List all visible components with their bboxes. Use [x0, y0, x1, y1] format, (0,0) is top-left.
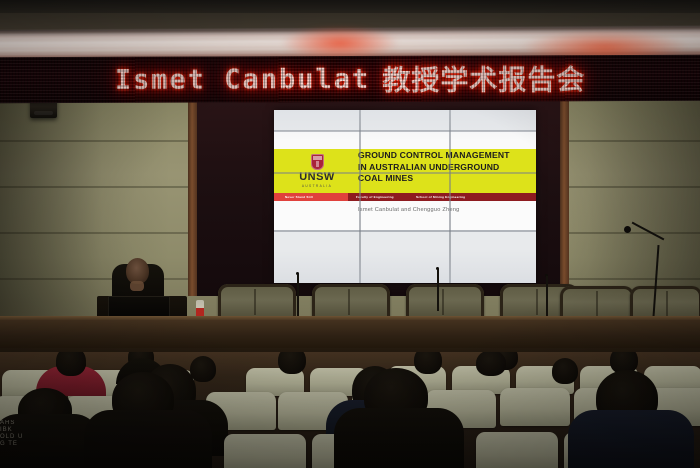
boom-microphone-head-icon	[624, 226, 631, 233]
audience-seat	[224, 434, 306, 468]
video-wall-bezel-h1	[274, 130, 536, 132]
audience-head	[278, 352, 306, 374]
jacket-print-text: AHS IBK OLD U G TE	[0, 420, 23, 448]
desk-microphone-pole	[297, 274, 299, 316]
audience-head	[476, 352, 506, 376]
desk-microphone-pole	[437, 269, 439, 311]
stage-chair	[406, 284, 484, 320]
stage-chair	[312, 284, 390, 320]
presentation-slide: UNSW AUSTRALIA GROUND CONTROL MANAGEMENT…	[274, 131, 536, 230]
unsw-crest-icon	[311, 154, 324, 170]
red-bar-segment-faculty: Faculty of Engineering	[348, 193, 410, 201]
audience-torso	[84, 410, 212, 468]
audience-torso	[334, 408, 464, 468]
presenter-hand	[130, 281, 144, 291]
unsw-logo: UNSW AUSTRALIA	[280, 149, 354, 193]
led-banner-text: Ismet Canbulat 教授学术报告会	[0, 55, 700, 103]
desk-microphone-pole	[546, 276, 548, 318]
stage-chair	[218, 284, 296, 320]
red-bar-segment-school: School of Mining Engineering	[410, 193, 482, 201]
slide-title-line-1: GROUND CONTROL MANAGEMENT	[358, 150, 530, 162]
slide-title: GROUND CONTROL MANAGEMENT IN AUSTRALIAN …	[358, 150, 530, 185]
audience-head	[190, 356, 216, 382]
unsw-sub-wordmark: AUSTRALIA	[302, 184, 332, 188]
audience-head	[414, 352, 442, 374]
video-wall: UNSW AUSTRALIA GROUND CONTROL MANAGEMENT…	[274, 110, 536, 283]
wall-pillar-right	[560, 96, 569, 296]
audience-torso	[568, 410, 694, 468]
slide-red-bar: Never Stand Still Faculty of Engineering…	[274, 193, 536, 201]
stage-table	[0, 316, 700, 352]
video-wall-bezel-v1	[359, 110, 361, 283]
led-banner-text-en: Ismet Canbulat	[115, 63, 371, 95]
slide-authors: Ismet Canbulat and Chengguo Zheng	[358, 207, 460, 213]
led-banner: Ismet Canbulat 教授学术报告会	[0, 55, 700, 103]
ceiling-shadow	[0, 0, 700, 13]
video-wall-bezel-v2	[449, 110, 451, 283]
wall-pillar-left	[188, 96, 197, 296]
video-wall-bezel-h2	[274, 172, 536, 174]
audience-area: AHS IBK OLD U G TE	[0, 352, 700, 468]
audience-seat	[476, 432, 558, 468]
video-wall-bezel-h3	[274, 230, 536, 232]
audience-head	[552, 358, 578, 384]
slide-top-margin	[274, 131, 536, 149]
slide-title-line-3: COAL MINES	[358, 173, 530, 185]
audience-head	[56, 352, 86, 376]
presenter-laptop	[108, 296, 170, 318]
red-bar-segment-tagline: Never Stand Still	[274, 193, 348, 201]
led-banner-text-cn: 教授学术报告会	[382, 58, 585, 99]
auditorium-photo: Ismet Canbulat 教授学术报告会 UNSW AUSTRALIA GR…	[0, 0, 700, 468]
audience-seat	[500, 388, 570, 426]
